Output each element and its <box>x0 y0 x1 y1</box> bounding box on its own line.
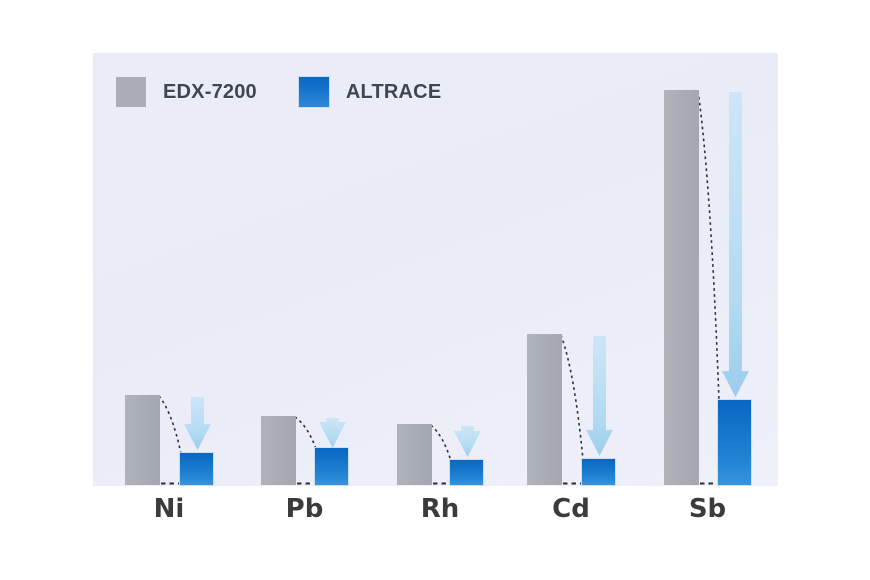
bar-altrace-pb[interactable] <box>315 448 348 485</box>
connector-rh <box>431 425 451 461</box>
chart-figure: EDX-7200 ALTRACE NiPbRhCdSb <box>0 0 870 580</box>
down-arrow-icon-cd <box>586 336 613 456</box>
chart-panel: EDX-7200 ALTRACE <box>93 53 778 486</box>
connector-ni <box>159 396 181 454</box>
bar-altrace-cd[interactable] <box>582 459 615 485</box>
x-tick-label-rh: Rh <box>421 494 460 524</box>
connector-cd <box>561 335 583 460</box>
bar-edx-7200-sb[interactable] <box>664 90 699 485</box>
legend-item-altrace[interactable]: ALTRACE <box>299 77 441 107</box>
bar-altrace-rh[interactable] <box>450 460 483 485</box>
x-tick-label-ni: Ni <box>154 494 185 524</box>
down-arrow-icon-sb <box>722 92 749 397</box>
down-arrow-icon-rh <box>454 426 481 457</box>
connector-pb <box>295 417 316 449</box>
chart-legend: EDX-7200 ALTRACE <box>116 77 441 107</box>
x-tick-label-cd: Cd <box>552 494 590 524</box>
bar-edx-7200-rh[interactable] <box>397 424 432 485</box>
down-arrow-icon-ni <box>184 397 211 450</box>
bar-edx-7200-cd[interactable] <box>527 334 562 485</box>
x-tick-label-pb: Pb <box>286 494 324 524</box>
bar-edx-7200-pb[interactable] <box>261 416 296 485</box>
gray-swatch-icon <box>116 77 146 107</box>
connector-sb <box>698 91 719 401</box>
bar-edx-7200-ni[interactable] <box>125 395 160 485</box>
legend-label-altrace: ALTRACE <box>346 81 441 104</box>
x-axis-labels: NiPbRhCdSb <box>93 494 778 534</box>
bar-altrace-ni[interactable] <box>180 453 213 485</box>
down-arrow-icon-pb <box>319 418 346 448</box>
legend-label-edx-7200: EDX-7200 <box>163 81 257 104</box>
bar-altrace-sb[interactable] <box>718 400 751 485</box>
x-tick-label-sb: Sb <box>689 494 726 524</box>
plot-area <box>93 53 778 486</box>
legend-item-edx-7200[interactable]: EDX-7200 <box>116 77 257 107</box>
blue-swatch-icon <box>299 77 329 107</box>
